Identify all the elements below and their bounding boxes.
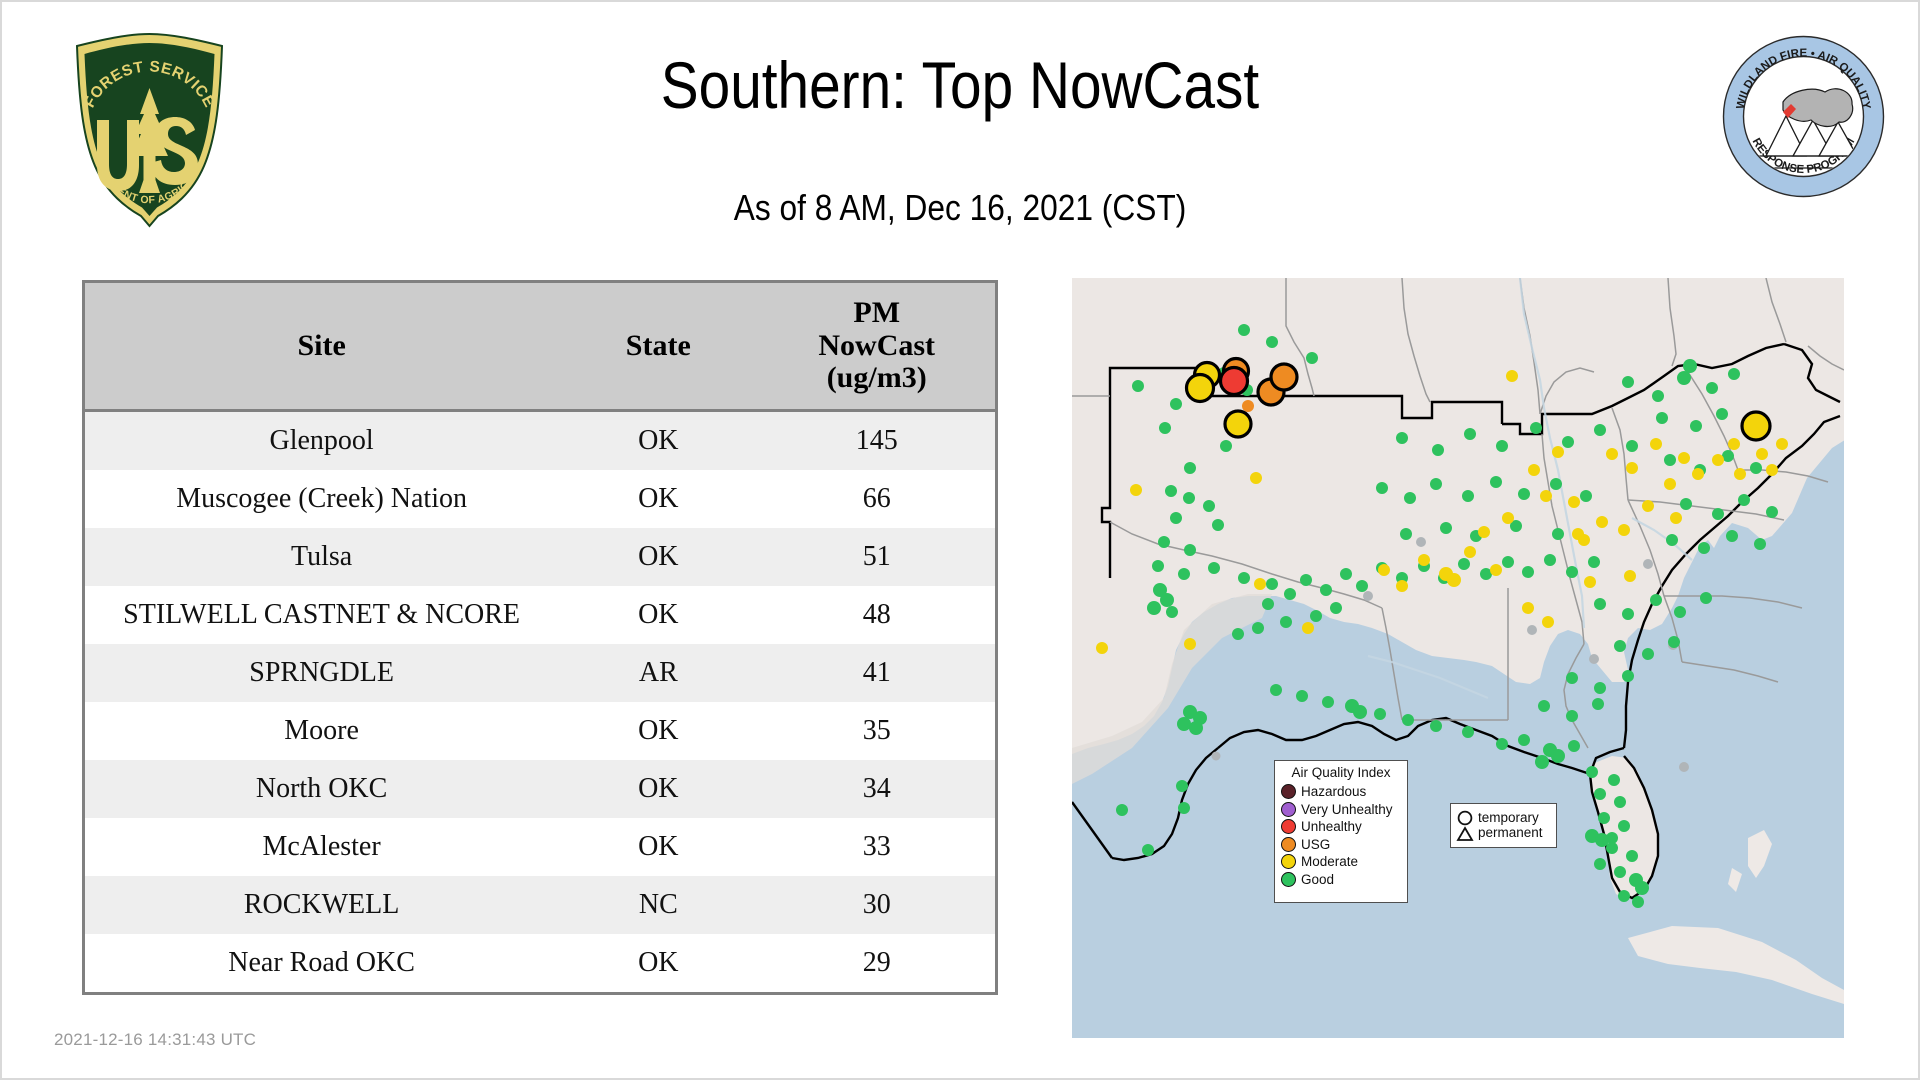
table-row: Muscogee (Creek) NationOK66 bbox=[85, 470, 995, 528]
cell-site: Tulsa bbox=[85, 528, 558, 586]
aqi-swatch-very-unhealthy bbox=[1281, 802, 1296, 817]
cell-state: OK bbox=[558, 528, 758, 586]
site-marker-north-okc bbox=[1187, 375, 1214, 402]
cell-state: AR bbox=[558, 644, 758, 702]
cell-site: STILWELL CASTNET & NCORE bbox=[85, 586, 558, 644]
cell-site: ROCKWELL bbox=[85, 876, 558, 934]
cell-state: NC bbox=[558, 876, 758, 934]
cell-state: OK bbox=[558, 411, 758, 471]
cell-pm: 48 bbox=[758, 586, 995, 644]
cell-state: OK bbox=[558, 934, 758, 992]
aqi-swatch-hazardous bbox=[1281, 784, 1296, 799]
page-title: Southern: Top NowCast bbox=[136, 52, 1784, 118]
aqi-swatch-moderate bbox=[1281, 854, 1296, 869]
cell-site: McAlester bbox=[85, 818, 558, 876]
site-marker-mcalester bbox=[1225, 411, 1251, 437]
cell-state: OK bbox=[558, 470, 758, 528]
aqi-swatch-unhealthy bbox=[1281, 819, 1296, 834]
cell-pm: 66 bbox=[758, 470, 995, 528]
pm-header-line-1: PM bbox=[762, 297, 991, 329]
site-marker-rockwell bbox=[1742, 412, 1770, 440]
table-row: STILWELL CASTNET & NCOREOK48 bbox=[85, 586, 995, 644]
generated-timestamp: 2021-12-16 14:31:43 UTC bbox=[54, 1030, 256, 1050]
cell-site: Moore bbox=[85, 702, 558, 760]
table-row: Near Road OKCOK29 bbox=[85, 934, 995, 992]
cell-pm: 145 bbox=[758, 411, 995, 471]
site-marker-stilwell-castnet-ncore bbox=[1271, 364, 1297, 390]
southern-region-air-quality-map[interactable] bbox=[1072, 278, 1844, 1038]
aqi-label-good: Good bbox=[1301, 873, 1334, 887]
cell-state: OK bbox=[558, 818, 758, 876]
cell-site: SPRNGDLE bbox=[85, 644, 558, 702]
cell-pm: 41 bbox=[758, 644, 995, 702]
cell-pm: 33 bbox=[758, 818, 995, 876]
cell-pm: 29 bbox=[758, 934, 995, 992]
pm-header-line-3: (ug/m3) bbox=[762, 362, 991, 394]
cell-pm: 35 bbox=[758, 702, 995, 760]
map-markers-usg bbox=[1242, 400, 1254, 412]
aqi-label-moderate: Moderate bbox=[1301, 855, 1358, 869]
aqi-legend-item-good: Good bbox=[1281, 871, 1401, 889]
pm-header-line-2: NowCast bbox=[762, 330, 991, 362]
cell-site: Glenpool bbox=[85, 411, 558, 471]
column-header-pm-nowcast: PM NowCast (ug/m3) bbox=[758, 283, 995, 411]
aqi-legend-title: Air Quality Index bbox=[1281, 765, 1401, 780]
marker-type-legend: temporary permanent bbox=[1450, 803, 1557, 848]
site-marker-glenpool bbox=[1221, 368, 1248, 395]
table-row: MooreOK35 bbox=[85, 702, 995, 760]
marker-legend-label-permanent: permanent bbox=[1478, 826, 1543, 841]
marker-legend-label-temporary: temporary bbox=[1478, 811, 1543, 826]
table-row: SPRNGDLEAR41 bbox=[85, 644, 995, 702]
aqi-label-hazardous: Hazardous bbox=[1301, 785, 1366, 799]
aqi-label-unhealthy: Unhealthy bbox=[1301, 820, 1362, 834]
aqi-legend-item-usg: USG bbox=[1281, 836, 1401, 854]
table-row: ROCKWELLNC30 bbox=[85, 876, 995, 934]
map-canvas bbox=[1072, 278, 1844, 1038]
cell-site: North OKC bbox=[85, 760, 558, 818]
aqi-legend-item-very-unhealthy: Very Unhealthy bbox=[1281, 801, 1401, 819]
marker-shapes-icon bbox=[1456, 809, 1474, 843]
cell-pm: 30 bbox=[758, 876, 995, 934]
table-row: TulsaOK51 bbox=[85, 528, 995, 586]
cell-site: Muscogee (Creek) Nation bbox=[85, 470, 558, 528]
table-header-row: Site State PM NowCast (ug/m3) bbox=[85, 283, 995, 411]
page-subtitle: As of 8 AM, Dec 16, 2021 (CST) bbox=[117, 187, 1803, 229]
cell-state: OK bbox=[558, 586, 758, 644]
aqi-legend-item-hazardous: Hazardous bbox=[1281, 783, 1401, 801]
aqi-legend: Air Quality Index Hazardous Very Unhealt… bbox=[1274, 760, 1408, 903]
aqi-label-very-unhealthy: Very Unhealthy bbox=[1301, 803, 1393, 817]
cell-state: OK bbox=[558, 702, 758, 760]
aqi-swatch-good bbox=[1281, 872, 1296, 887]
aqi-legend-item-unhealthy: Unhealthy bbox=[1281, 818, 1401, 836]
column-header-state: State bbox=[558, 283, 758, 411]
table-row: GlenpoolOK145 bbox=[85, 411, 995, 471]
aqi-legend-item-moderate: Moderate bbox=[1281, 853, 1401, 871]
top-nowcast-table: Site State PM NowCast (ug/m3) GlenpoolOK… bbox=[82, 280, 998, 995]
column-header-site: Site bbox=[85, 283, 558, 411]
aqi-swatch-usg bbox=[1281, 837, 1296, 852]
aqi-label-usg: USG bbox=[1301, 838, 1330, 852]
table-row: North OKCOK34 bbox=[85, 760, 995, 818]
cell-state: OK bbox=[558, 760, 758, 818]
slide-page: FOREST SERVICE DEPARTMENT OF AGRICULTURE… bbox=[0, 0, 1920, 1080]
cell-pm: 51 bbox=[758, 528, 995, 586]
cell-site: Near Road OKC bbox=[85, 934, 558, 992]
table-row: McAlesterOK33 bbox=[85, 818, 995, 876]
cell-pm: 34 bbox=[758, 760, 995, 818]
